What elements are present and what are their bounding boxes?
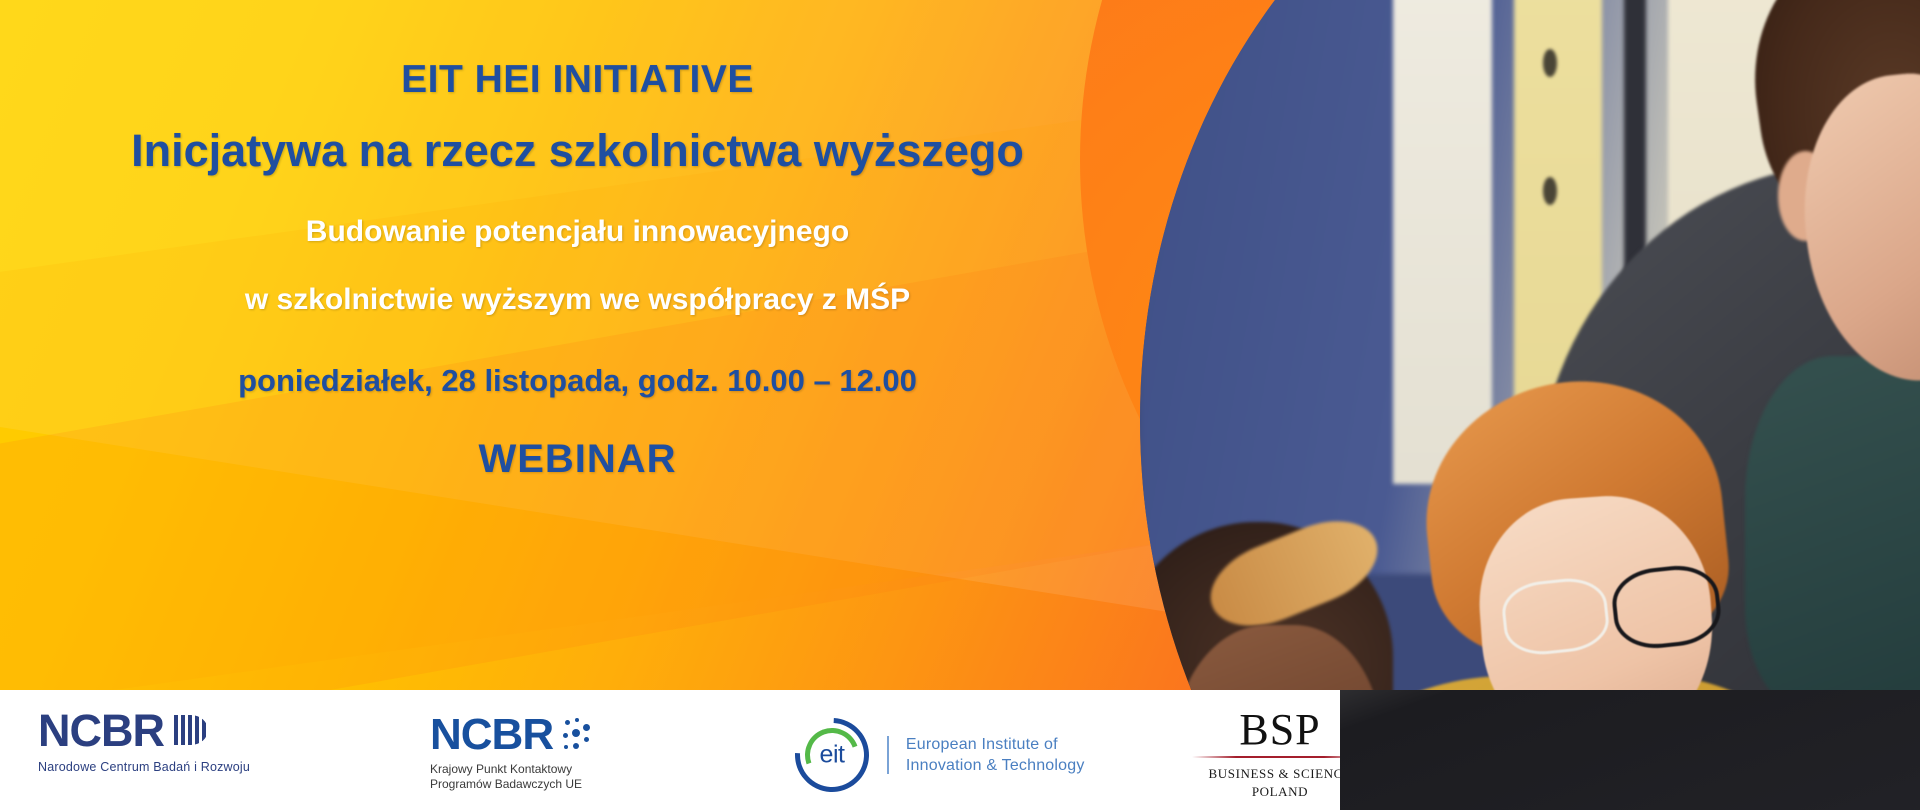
title-polish: Inicjatywa na rzecz szkolnictwa wyższego (0, 125, 1155, 177)
ncbr-network-dots-icon (563, 718, 593, 752)
event-datetime: poniedziałek, 28 listopada, godz. 10.00 … (0, 363, 1155, 399)
photo-wall-dot-1 (1543, 49, 1557, 77)
photo-wall-panel-1 (1393, 0, 1492, 484)
eit-ring-icon: eit (795, 718, 869, 792)
hero-photo-image (1140, 0, 1920, 810)
event-banner: EIT HEI INITIATIVE Inicjatywa na rzecz s… (0, 0, 1920, 810)
ncbr-main-wordmark: NCBR (38, 708, 164, 754)
eit-divider (887, 736, 889, 774)
ncbr-kpk-tagline: Krajowy Punkt Kontaktowy Programów Badaw… (430, 762, 593, 792)
logo-eit: eit European Institute of Innovation & T… (795, 718, 1085, 792)
banner-text-block: EIT HEI INITIATIVE Inicjatywa na rzecz s… (0, 0, 1180, 690)
eit-label-line-2: Innovation & Technology (906, 757, 1085, 774)
ncbr-striped-mark-icon (174, 715, 208, 745)
footer-photo-fill (1340, 690, 1920, 810)
ncbr-main-tagline: Narodowe Centrum Badań i Rozwoju (38, 760, 250, 774)
photo-wall-dot-2 (1543, 177, 1557, 205)
ncbr-kpk-tagline-line-2: Programów Badawczych UE (430, 777, 593, 792)
ncbr-kpk-wordmark: NCBR (430, 712, 553, 757)
eit-wordmark: eit (795, 741, 869, 770)
eit-label-line-1: European Institute of (906, 736, 1058, 753)
event-type-label: WEBINAR (0, 437, 1155, 482)
footer-photo-overlap (1340, 690, 1920, 810)
subtitle-line-2: w szkolnictwie wyższym we współpracy z M… (0, 283, 1155, 317)
footer-photo-circle (1340, 690, 1920, 810)
photo-instructor-shirt (1745, 356, 1920, 714)
eit-label: European Institute of Innovation & Techn… (906, 734, 1085, 776)
logo-ncbr-kpk: NCBR Krajowy Punkt Kontaktowy Programów … (430, 712, 593, 792)
subtitle-line-1: Budowanie potencjału innowacyjnego (0, 215, 1155, 249)
ncbr-kpk-tagline-line-1: Krajowy Punkt Kontaktowy (430, 762, 593, 777)
hero-photo (1140, 0, 1920, 810)
logo-ncbr-main: NCBR Narodowe Centrum Badań i Rozwoju (38, 708, 250, 774)
title-english: EIT HEI INITIATIVE (0, 58, 1155, 102)
